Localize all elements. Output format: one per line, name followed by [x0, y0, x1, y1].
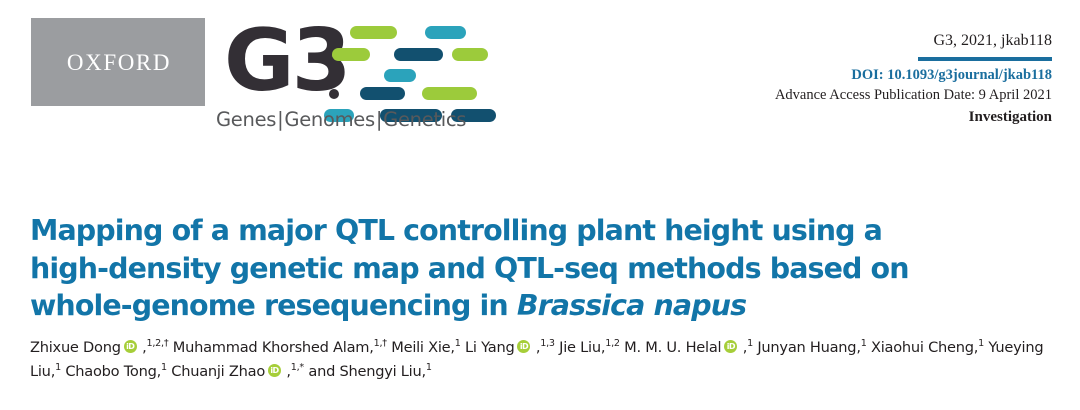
tagline-separator-2: | [375, 108, 383, 131]
article-metadata-block: G3, 2021, jkab118 DOI: 10.1093/g3journal… [775, 30, 1052, 128]
orcid-icon[interactable] [124, 340, 137, 353]
logo-bar-2 [332, 48, 370, 61]
author-affiliation-marker: 1,2 [605, 338, 620, 349]
oxford-university-press-logo: OXFORD [31, 18, 205, 106]
title-line-2: high-density genetic map and QTL-seq met… [30, 252, 909, 285]
tagline-genomes: Genomes [284, 108, 374, 131]
author-affiliation-marker: 1 [426, 362, 432, 373]
author-name[interactable]: Chuanji Zhao [171, 363, 265, 380]
title-species-name: Brassica napus [517, 289, 746, 322]
tagline-genes: Genes [216, 108, 276, 131]
orcid-icon[interactable] [724, 340, 737, 353]
tagline-genetics: Genetics [383, 108, 466, 131]
article-section-label: Investigation [775, 107, 1052, 128]
logo-bar-4 [452, 48, 488, 61]
author-name[interactable]: Xiaohui Cheng [871, 339, 974, 356]
author-affiliation-marker: 1,* [291, 362, 304, 373]
author-affiliation-marker: 1 [455, 338, 461, 349]
author-affiliation-marker: 1 [861, 338, 867, 349]
author-affiliation-marker: 1 [161, 362, 167, 373]
logo-bar-3 [394, 48, 443, 61]
doi-link[interactable]: DOI: 10.1093/g3journal/jkab118 [775, 65, 1052, 86]
author-affiliation-marker: 1 [747, 338, 753, 349]
g3-tagline: Genes|Genomes|Genetics [216, 108, 466, 131]
orcid-icon[interactable] [268, 364, 281, 377]
author-name[interactable]: Li Yang [465, 339, 514, 356]
g3-logo-bars-graphic [332, 26, 496, 100]
logo-bar-7 [422, 87, 477, 100]
logo-bar-5 [384, 69, 416, 82]
logo-bar-1 [425, 26, 466, 39]
title-line-1: Mapping of a major QTL controlling plant… [30, 214, 882, 247]
author-list: Zhixue Dong ,1,2,† Muhammad Khorshed Ala… [30, 336, 1060, 383]
article-title: Mapping of a major QTL controlling plant… [30, 212, 1040, 325]
metadata-divider-rule [918, 57, 1052, 61]
orcid-icon[interactable] [517, 340, 530, 353]
author-name[interactable]: Meili Xie [391, 339, 450, 356]
author-name[interactable]: Junyan Huang [757, 339, 856, 356]
author-name[interactable]: Shengyi Liu [339, 363, 421, 380]
page-header: OXFORD G3 Genes|Genomes|Genetics G3, 202… [0, 0, 1080, 150]
author-affiliation-marker: 1 [978, 338, 984, 349]
g3-journal-logo: G3 Genes|Genomes|Genetics [224, 22, 496, 137]
author-name[interactable]: Chaobo Tong [65, 363, 156, 380]
author-name[interactable]: Jie Liu [559, 339, 601, 356]
author-name[interactable]: Zhixue Dong [30, 339, 121, 356]
logo-bar-0 [350, 26, 397, 39]
author-affiliation-marker: 1,3 [540, 338, 555, 349]
author-affiliation-marker: 1,2,† [147, 338, 169, 349]
journal-citation: G3, 2021, jkab118 [933, 30, 1052, 56]
author-name[interactable]: Muhammad Khorshed Alam [173, 339, 370, 356]
oxford-wordmark: OXFORD [65, 51, 171, 74]
author-affiliation-marker: 1,† [374, 338, 387, 349]
author-affiliation-marker: 1 [55, 362, 61, 373]
logo-bar-6 [360, 87, 405, 100]
title-line-3-prefix: whole-genome resequencing in [30, 289, 517, 322]
author-name[interactable]: M. M. U. Helal [624, 339, 721, 356]
advance-access-date: Advance Access Publication Date: 9 April… [775, 85, 1052, 106]
